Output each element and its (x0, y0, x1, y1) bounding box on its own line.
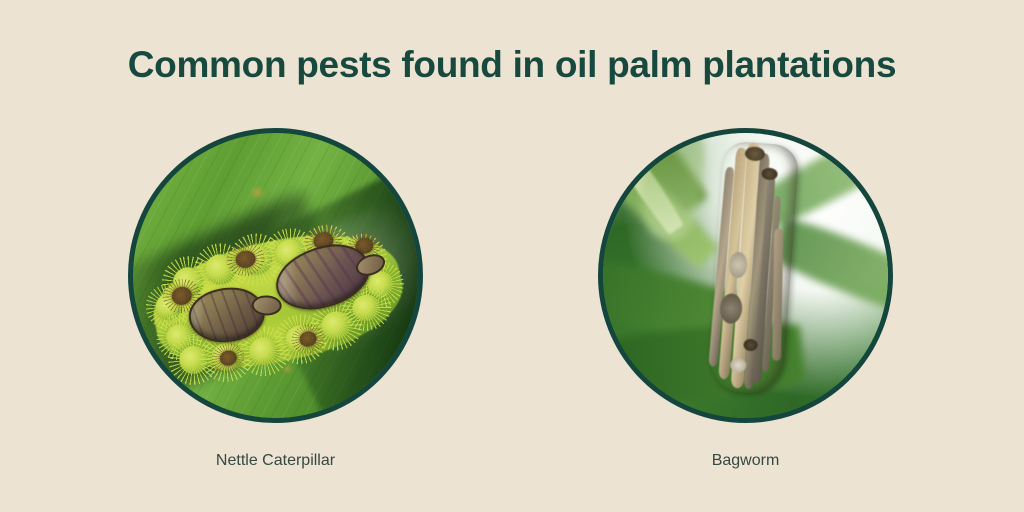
caption-bagworm: Bagworm (598, 452, 893, 470)
dark-tuft (170, 285, 193, 307)
dark-tuft (218, 349, 238, 367)
photo-bagworm (603, 133, 888, 418)
dark-tuft (298, 330, 318, 348)
pest-infographic: Common pests found in oil palm plantatio… (0, 0, 1024, 512)
figure-bagworm (598, 128, 893, 423)
spine-tuft (350, 292, 383, 323)
photo-circle-bagworm (598, 128, 893, 423)
leaf-blemish (251, 187, 264, 198)
page-title: Common pests found in oil palm plantatio… (0, 44, 1024, 86)
dark-tuft (234, 249, 257, 270)
photo-circle-nettle-caterpillar (128, 128, 423, 423)
photo-nettle-caterpillar (133, 133, 418, 418)
figure-nettle-caterpillar (128, 128, 423, 423)
caption-nettle-caterpillar: Nettle Caterpillar (128, 452, 423, 470)
